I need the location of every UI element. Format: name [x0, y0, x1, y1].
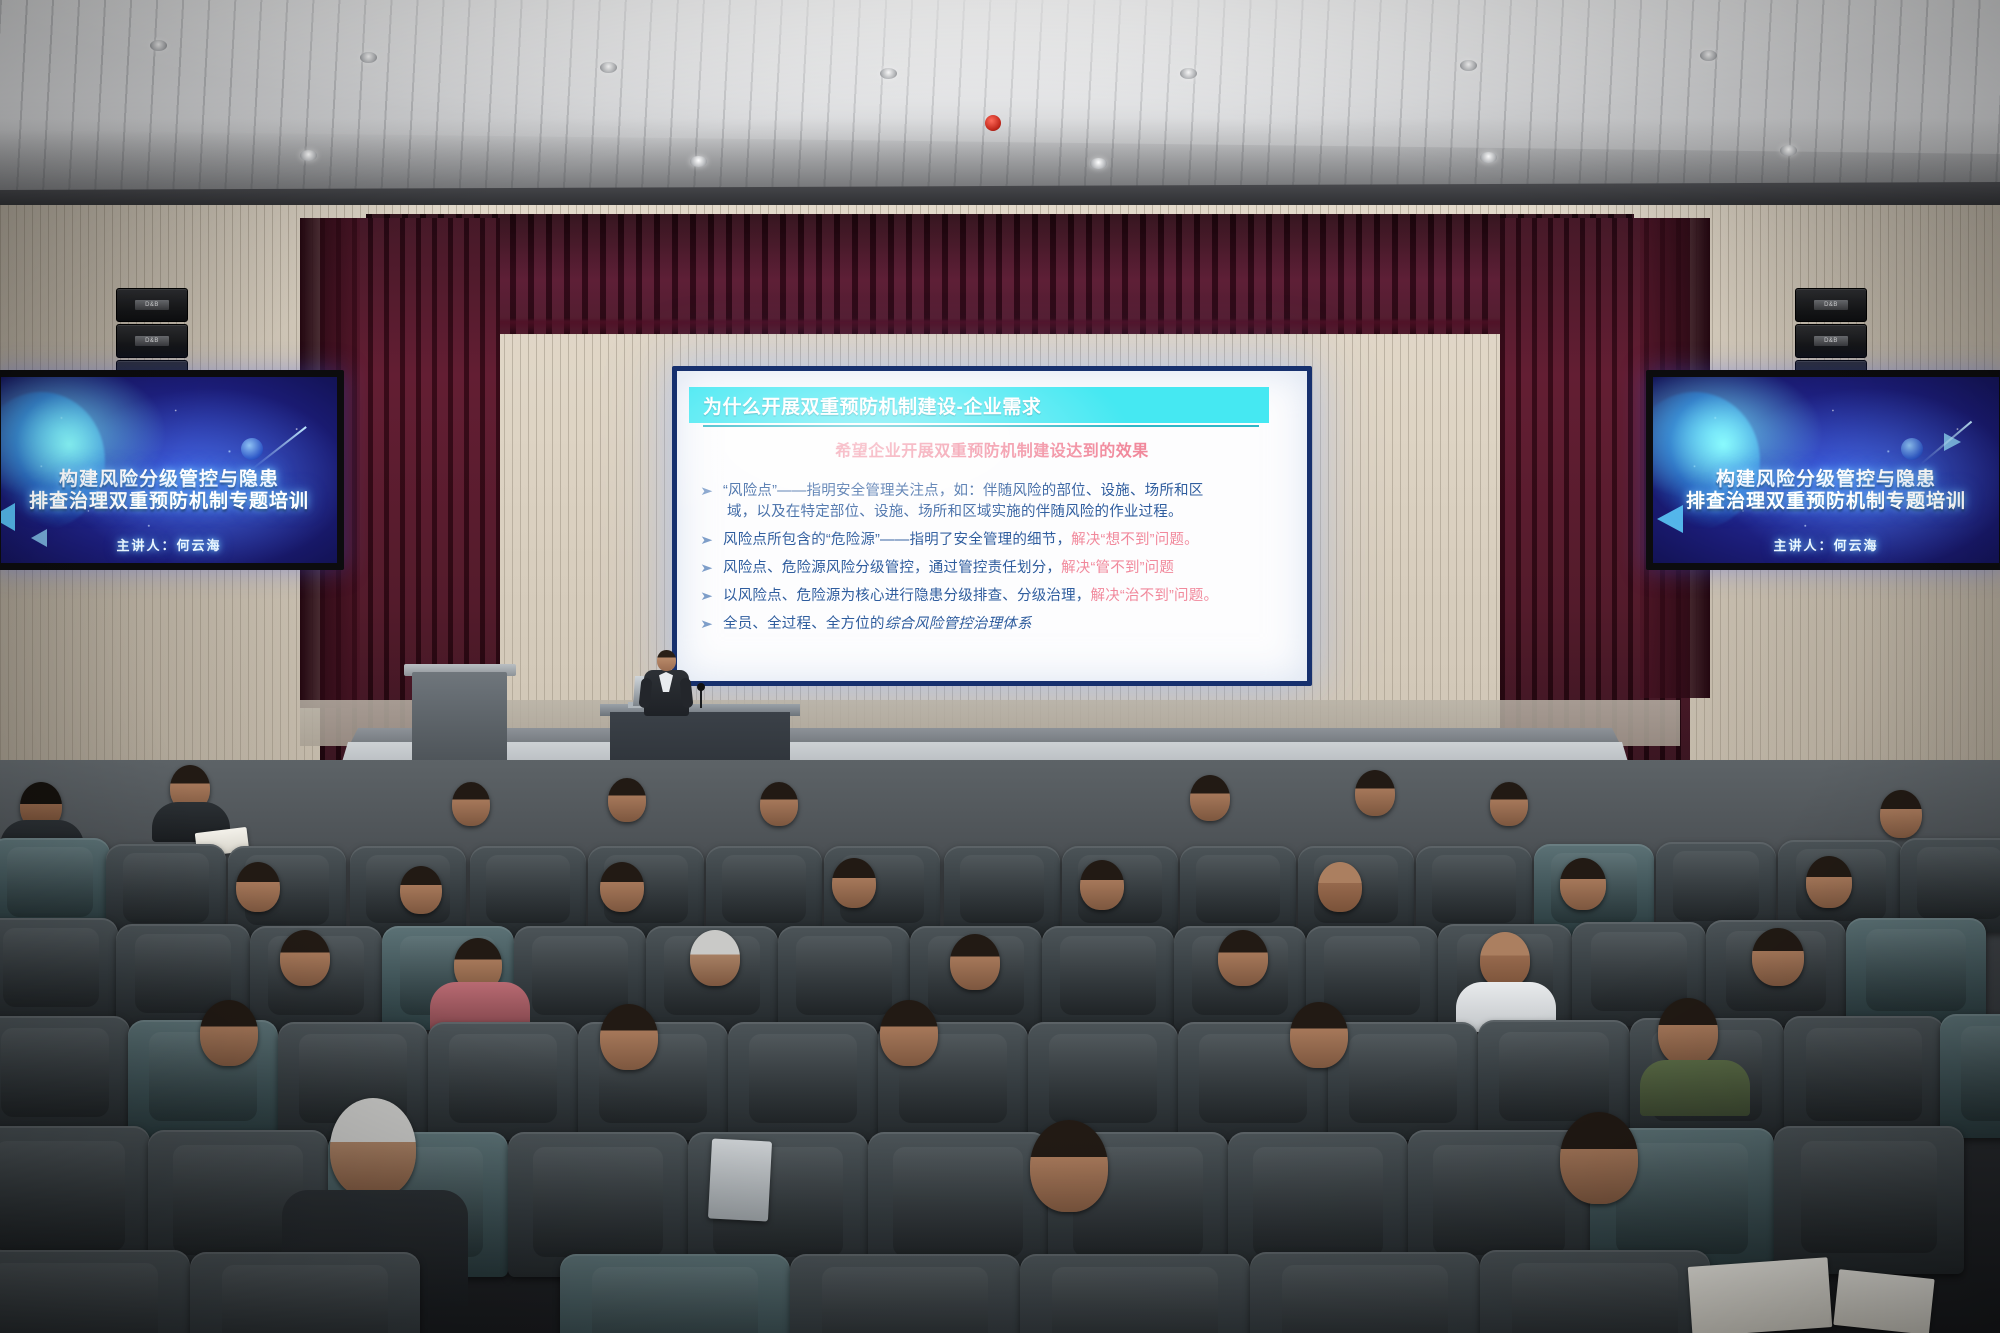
fire-sprinkler-icon	[985, 115, 1001, 131]
bullet-highlight: 解决“治不到”问题。	[1091, 588, 1219, 604]
audience-head	[280, 930, 330, 986]
bullet-arrow-icon: ➤	[700, 558, 726, 578]
line-array-speaker: D&B	[116, 288, 188, 322]
downlight-icon	[1780, 145, 1797, 156]
bullet-arrow-icon: ➤	[700, 586, 726, 606]
bullet-arrow-icon: ➤	[700, 481, 726, 501]
speaker-arm-right	[679, 678, 693, 709]
speaker-badge: D&B	[1814, 300, 1848, 310]
bullet-line: 域，以及在特定部位、设施、场所和区域实施的伴随风险的作业过程。	[723, 502, 1203, 523]
audience-head	[1080, 860, 1124, 910]
bullet-line: 全员、全过程、全方位的	[723, 616, 885, 632]
speaker-person	[640, 650, 692, 728]
speaker-badge: D&B	[135, 300, 169, 310]
downlight-icon	[1460, 60, 1477, 71]
audience-head	[690, 930, 740, 986]
audience-head	[1318, 862, 1362, 912]
audience-head	[1806, 856, 1852, 908]
audience-seat	[1042, 926, 1174, 1030]
audience-head	[1658, 998, 1718, 1066]
speaker-head	[657, 650, 676, 671]
led-left-title: 构建风险分级管控与隐患 排查治理双重预防机制专题培训	[1, 469, 337, 513]
speaker-badge: D&B	[1814, 336, 1848, 346]
notepad	[1688, 1257, 1833, 1333]
slide-subtitle: 希望企业开展双重预防机制建设达到的效果	[677, 437, 1307, 461]
audience-head	[1030, 1120, 1108, 1212]
audience-head	[330, 1098, 416, 1198]
slide-bullet-item: ➤ 风险点、危险源风险分级管控，通过管控责任划分，解决“管不到”问题	[703, 558, 1291, 579]
audience-seat	[790, 1254, 1020, 1333]
tablet-device	[708, 1138, 772, 1221]
audience-head	[1560, 858, 1606, 910]
slide-title-bar: 为什么开展双重预防机制建设-企业需求	[689, 387, 1269, 423]
slide-bullet-list: ➤ “风险点”——指明安全管理关注点，如：伴随风险的部位、设施、场所和区 域，以…	[703, 481, 1291, 642]
led-banner-left: 构建风险分级管控与隐患 排查治理双重预防机制专题培训 主讲人：何云海	[0, 370, 344, 570]
audience-head	[608, 778, 646, 822]
projection-screen: 为什么开展双重预防机制建设-企业需求 希望企业开展双重预防机制建设达到的效果 ➤…	[677, 371, 1307, 681]
audience-seat	[470, 846, 586, 936]
speaker-badge: D&B	[135, 336, 169, 346]
audience-seat	[1784, 1016, 1944, 1138]
stage-curtain-hem	[366, 320, 1634, 334]
bullet-line: 以风险点、危险源为核心进行隐患分级排查、分级治理，	[723, 588, 1091, 604]
audience-seat	[1028, 1022, 1178, 1140]
downlight-icon	[600, 62, 617, 73]
slide-title: 为什么开展双重预防机制建设-企业需求	[703, 392, 1041, 419]
audience-head	[200, 1000, 258, 1066]
lectern	[412, 672, 507, 764]
audience-seat	[1846, 918, 1986, 1026]
audience-seat	[728, 1022, 878, 1140]
audience-seat	[1020, 1254, 1250, 1333]
audience-head	[1218, 930, 1268, 986]
audience-seat	[1940, 1014, 2000, 1138]
led-left-presenter: 主讲人：何云海	[1, 535, 337, 554]
notepad	[1833, 1269, 1934, 1333]
downlight-icon	[1180, 68, 1197, 79]
audience-head	[760, 782, 798, 826]
audience-seat	[560, 1254, 790, 1333]
audience-head	[1355, 770, 1395, 816]
projection-screen-frame: 为什么开展双重预防机制建设-企业需求 希望企业开展双重预防机制建设达到的效果 ➤…	[672, 366, 1312, 686]
audience-head	[1880, 790, 1922, 838]
audience-head	[880, 1000, 938, 1066]
audience-seat	[428, 1022, 578, 1140]
bullet-highlight: 解决“管不到”问题	[1061, 560, 1174, 576]
microphone-icon	[700, 688, 702, 708]
audience-seat	[190, 1252, 420, 1333]
downlight-icon	[690, 156, 707, 167]
audience-seat	[0, 838, 110, 930]
audience-head	[1190, 775, 1230, 821]
bullet-arrow-icon: ➤	[700, 614, 726, 634]
audience-head	[950, 934, 1000, 990]
downlight-icon	[1700, 50, 1717, 61]
audience-seat	[0, 1250, 190, 1333]
line-array-speaker: D&B	[1795, 288, 1867, 322]
downlight-icon	[880, 68, 897, 79]
audience-seat	[0, 1016, 130, 1134]
audience-head	[1290, 1002, 1348, 1068]
audience-head	[400, 866, 442, 914]
led-right-title: 构建风险分级管控与隐患 排查治理双重预防机制专题培训	[1653, 469, 1999, 513]
downlight-icon	[150, 40, 167, 51]
audience-head	[832, 858, 876, 908]
bullet-line: “风险点”——指明安全管理关注点，如：伴随风险的部位、设施、场所和区	[723, 483, 1203, 499]
audience-head	[1490, 782, 1528, 826]
audience-seat	[1180, 846, 1296, 936]
slide-bullet-item: ➤ 全员、全过程、全方位的综合风险管控治理体系	[703, 614, 1291, 635]
bullet-line: 风险点所包含的“危险源”——指明了安全管理的细节，	[723, 532, 1071, 548]
downlight-icon	[1090, 158, 1107, 169]
downlight-icon	[1480, 152, 1497, 163]
audience-seat	[706, 846, 822, 936]
bullet-highlight: 解决“想不到”问题。	[1071, 532, 1199, 548]
audience-seat	[1328, 1022, 1478, 1140]
slide-bullet-item: ➤ “风险点”——指明安全管理关注点，如：伴随风险的部位、设施、场所和区 域，以…	[703, 481, 1291, 523]
slide-bullet-item: ➤ 风险点所包含的“危险源”——指明了安全管理的细节，解决“想不到”问题。	[703, 530, 1291, 551]
downlight-icon	[360, 52, 377, 63]
audience-seat	[0, 918, 118, 1022]
audience-seat	[1250, 1252, 1480, 1333]
led-right-presenter: 主讲人：何云海	[1653, 535, 1999, 554]
audience-seat	[1774, 1126, 1964, 1274]
bullet-italic: 综合风险管控治理体系	[885, 616, 1032, 632]
audience-head	[1560, 1112, 1638, 1204]
audience-head	[600, 1004, 658, 1070]
audience-shoulder	[1640, 1060, 1750, 1116]
audience-seat	[944, 846, 1060, 936]
audience-head	[452, 782, 490, 826]
audience-head	[600, 862, 644, 912]
slide-bullet-item: ➤ 以风险点、危险源为核心进行隐患分级排查、分级治理，解决“治不到”问题。	[703, 586, 1291, 607]
auditorium-scene: D&B D&B D&B D&B D&B D&B D&B D&B 构建风险分级管控…	[0, 0, 2000, 1333]
led-banner-right: 构建风险分级管控与隐患 排查治理双重预防机制专题培训 主讲人：何云海	[1646, 370, 2000, 570]
audience-head	[1480, 932, 1530, 988]
audience-head	[236, 862, 280, 912]
bullet-arrow-icon: ➤	[700, 530, 726, 550]
audience-seat	[1416, 846, 1532, 936]
line-array-speaker: D&B	[1795, 324, 1867, 358]
downlight-icon	[300, 150, 317, 161]
line-array-speaker: D&B	[116, 324, 188, 358]
bullet-line: 风险点、危险源风险分级管控，通过管控责任划分，	[723, 560, 1061, 576]
stage-curtain-valance	[366, 214, 1634, 334]
audience-seat	[106, 844, 226, 936]
audience-head	[1752, 928, 1804, 986]
audience-seat	[1480, 1250, 1710, 1333]
